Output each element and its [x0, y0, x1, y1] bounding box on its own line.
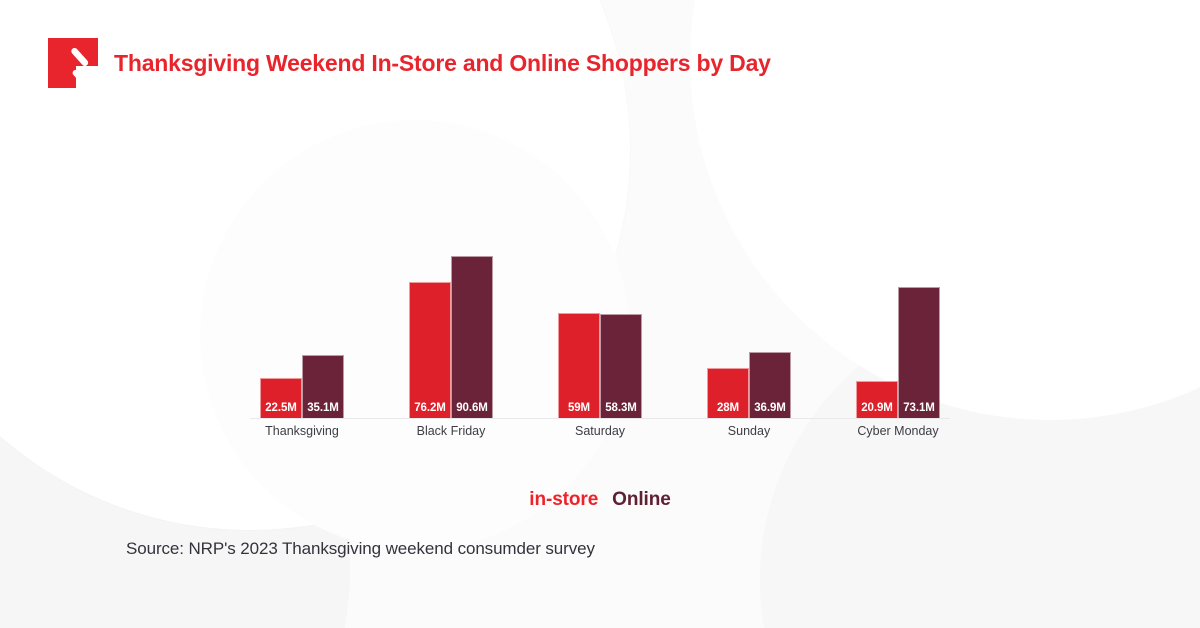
bar-instore-cyber-monday[interactable]: 20.9M [856, 381, 898, 418]
bar-online-sunday[interactable]: 36.9M [749, 352, 791, 418]
bar-group-black-friday: 76.2M 90.6M Black Friday [409, 230, 493, 418]
bar-value-label: 22.5M [265, 403, 296, 419]
bar-group-sunday: 28M 36.9M Sunday [707, 230, 791, 418]
bar-groups: 22.5M 35.1M Thanksgiving 76.2M 90.6M Bla… [260, 230, 940, 418]
bar-value-label: 73.1M [903, 403, 934, 419]
bar-instore-saturday[interactable]: 59M [558, 313, 600, 418]
legend-item-instore[interactable]: in-store [529, 489, 598, 511]
bar-instore-black-friday[interactable]: 76.2M [409, 282, 451, 418]
bar-value-label: 59M [568, 403, 590, 419]
bar-group-saturday: 59M 58.3M Saturday [558, 230, 642, 418]
category-label-black-friday: Black Friday [417, 424, 486, 438]
chart-legend: in-store Online [0, 489, 1200, 511]
bar-chart-plot: 22.5M 35.1M Thanksgiving 76.2M 90.6M Bla… [0, 0, 1200, 628]
bar-value-label: 20.9M [861, 403, 892, 419]
bar-online-saturday[interactable]: 58.3M [600, 314, 642, 418]
infographic-canvas: Thanksgiving Weekend In-Store and Online… [0, 0, 1200, 628]
category-label-saturday: Saturday [575, 424, 625, 438]
bar-group-thanksgiving: 22.5M 35.1M Thanksgiving [260, 230, 344, 418]
bar-online-black-friday[interactable]: 90.6M [451, 256, 493, 418]
source-note: Source: NRP's 2023 Thanksgiving weekend … [126, 539, 595, 559]
category-label-sunday: Sunday [728, 424, 770, 438]
bar-value-label: 76.2M [414, 403, 445, 419]
bar-instore-sunday[interactable]: 28M [707, 368, 749, 418]
bar-value-label: 35.1M [307, 403, 338, 419]
axis-baseline [250, 418, 950, 419]
bar-value-label: 90.6M [456, 403, 487, 419]
bar-online-cyber-monday[interactable]: 73.1M [898, 287, 940, 418]
bar-value-label: 36.9M [754, 403, 785, 419]
bar-instore-thanksgiving[interactable]: 22.5M [260, 378, 302, 418]
bar-group-cyber-monday: 20.9M 73.1M Cyber Monday [856, 230, 940, 418]
bar-value-label: 58.3M [605, 403, 636, 419]
category-label-thanksgiving: Thanksgiving [265, 424, 339, 438]
category-label-cyber-monday: Cyber Monday [857, 424, 938, 438]
legend-item-online[interactable]: Online [612, 489, 671, 511]
bar-value-label: 28M [717, 403, 739, 419]
bar-online-thanksgiving[interactable]: 35.1M [302, 355, 344, 418]
